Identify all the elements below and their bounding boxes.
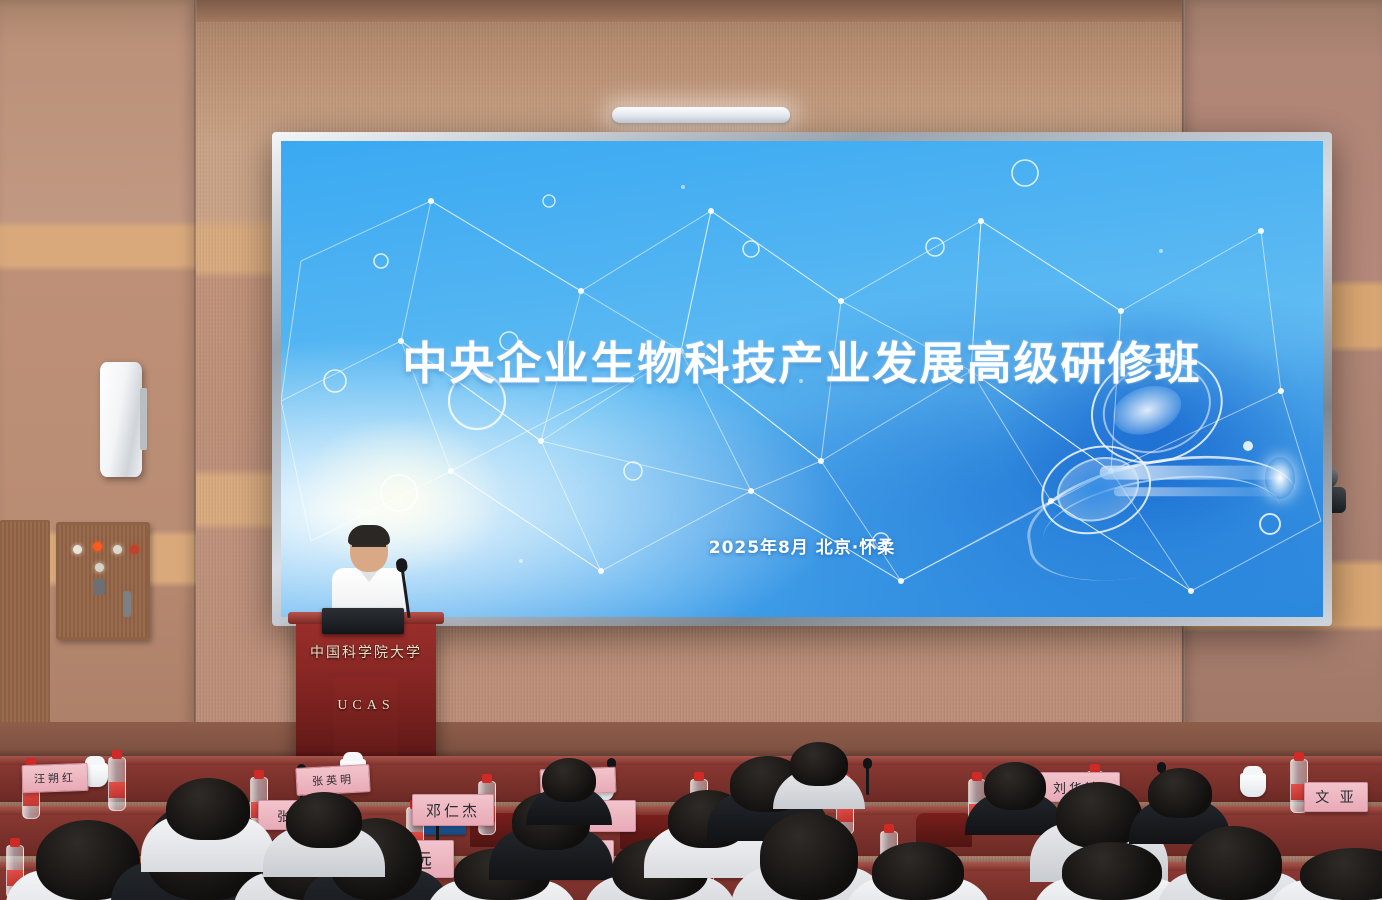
wall-control-panel[interactable] <box>56 522 150 640</box>
presentation-slide: 中央企业生物科技产业发展高级研修班 2025年8月 北京·怀柔 <box>281 141 1323 617</box>
lamp-white-1 <box>73 545 82 554</box>
lamp-center <box>95 563 104 572</box>
nameplate-1: 汪朔红 <box>22 763 89 793</box>
ceiling-band <box>0 0 1382 22</box>
audience-head <box>542 758 596 802</box>
glow-orb-ring <box>1259 513 1281 535</box>
audience-head <box>1186 826 1282 900</box>
glow-orb-large <box>1265 457 1295 499</box>
audience-head <box>166 778 250 840</box>
water-bottle <box>108 757 126 811</box>
audience-head <box>1062 842 1162 900</box>
panel-handle[interactable] <box>123 591 131 617</box>
panel-switch[interactable] <box>93 579 105 595</box>
podium-laptop <box>322 608 404 634</box>
ceiling-light <box>612 107 790 123</box>
audience-head <box>790 742 848 786</box>
podium-institution-label: 中国科学院大学 <box>296 642 436 662</box>
lamp-red <box>93 542 102 551</box>
desk-microphone <box>866 765 869 795</box>
wall-speaker-left-icon <box>100 362 142 477</box>
audience-head <box>760 812 858 900</box>
audience-head <box>286 792 362 848</box>
audience-area: 汪朔红张张英明邓仁杰李弘远古 建李孝锦孙超逸李瀚宇刘华锦文 亚 <box>0 735 1382 900</box>
side-door[interactable] <box>0 520 50 724</box>
lamp-amber <box>130 545 139 554</box>
nameplate-3: 张英明 <box>295 764 370 796</box>
glow-orb-small <box>1243 441 1253 451</box>
conference-hall-photo: 中央企业生物科技产业发展高级研修班 2025年8月 北京·怀柔 中国科学院大学 … <box>0 0 1382 900</box>
audience-head <box>984 762 1046 810</box>
slide-title: 中央企业生物科技产业发展高级研修班 <box>281 327 1323 392</box>
projection-screen-frame: 中央企业生物科技产业发展高级研修班 2025年8月 北京·怀柔 <box>272 132 1332 626</box>
podium-abbr-label: UCAS <box>296 698 436 714</box>
audience-head <box>872 842 964 900</box>
audience-head <box>1148 768 1212 818</box>
nameplate-11: 文 亚 <box>1304 782 1368 812</box>
nameplate-4: 邓仁杰 <box>412 794 494 826</box>
lamp-white-2 <box>113 545 122 554</box>
slide-subtitle: 2025年8月 北京·怀柔 <box>281 533 1323 558</box>
tea-cup <box>1240 773 1266 797</box>
